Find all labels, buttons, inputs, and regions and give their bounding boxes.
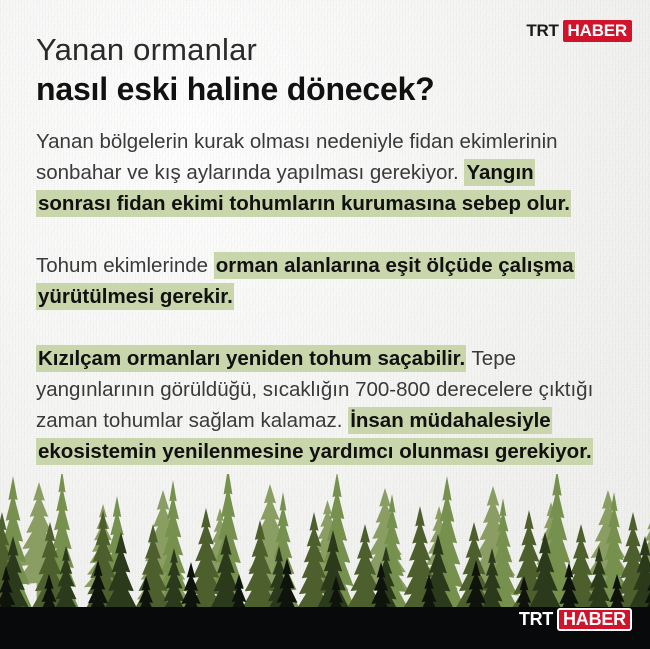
- paragraph-1: Yanan bölgelerin kurak olması nedeniyle …: [36, 126, 596, 219]
- paragraph-2: Tohum ekimlerinde orman alanlarına eşit …: [36, 250, 596, 312]
- page-title: Yanan ormanlar nasıl eski haline dönecek…: [36, 33, 435, 107]
- trt-haber-logo-bottom[interactable]: TRT HABER: [519, 608, 632, 631]
- logo-haber-badge: HABER: [563, 20, 632, 42]
- logo-trt-text: TRT: [519, 608, 557, 631]
- logo-trt-text: TRT: [526, 20, 562, 42]
- headline-line-1: Yanan ormanlar: [36, 33, 435, 67]
- paragraph-3-highlight-1: Kızılçam ormanları yeniden tohum saçabil…: [36, 345, 466, 372]
- body-copy: Yanan bölgelerin kurak olması nedeniyle …: [36, 126, 596, 467]
- infographic-poster: TRT HABER Yanan ormanlar nasıl eski hali…: [0, 0, 650, 649]
- paragraph-3: Kızılçam ormanları yeniden tohum saçabil…: [36, 343, 596, 467]
- logo-haber-badge: HABER: [557, 608, 632, 631]
- trt-haber-logo-top[interactable]: TRT HABER: [526, 20, 632, 42]
- headline-line-2: nasıl eski haline dönecek?: [36, 72, 435, 107]
- paragraph-2-plain-text: Tohum ekimlerinde: [36, 254, 214, 277]
